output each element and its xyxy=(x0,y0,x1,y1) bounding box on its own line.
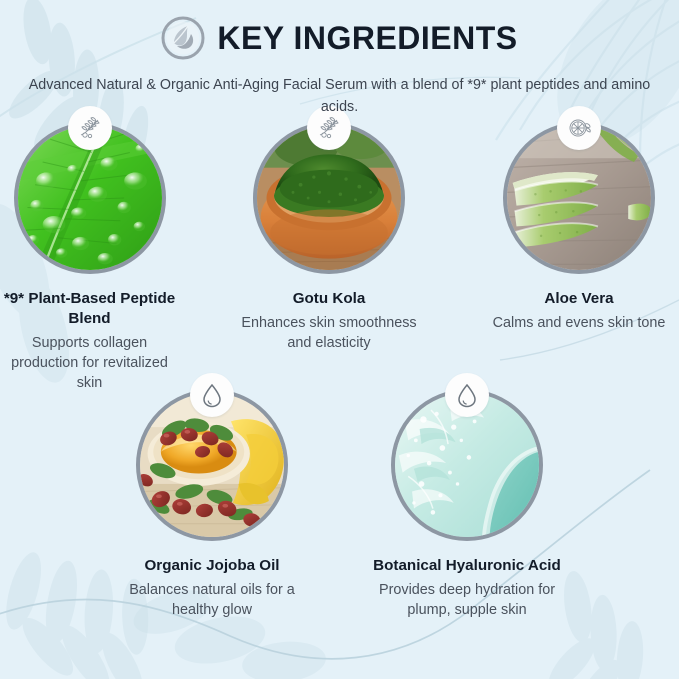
ingredient-name: Gotu Kola xyxy=(229,289,429,309)
photo-wrap xyxy=(503,122,655,274)
citrus-slice-icon xyxy=(566,115,592,141)
ingredient-description: Supports collagen production for revital… xyxy=(2,334,178,394)
water-droplet-icon xyxy=(455,382,479,408)
ingredient-row-top: *9* Plant-Based Peptide Blend Supports c… xyxy=(0,122,679,394)
ingredient-row-bottom: Organic Jojoba Oil Balances natural oils… xyxy=(0,389,679,621)
ingredient-card-peptide-blend: *9* Plant-Based Peptide Blend Supports c… xyxy=(0,122,179,394)
ingredient-name: Botanical Hyaluronic Acid xyxy=(360,556,575,576)
water-droplet-icon xyxy=(200,382,224,408)
photo-wrap xyxy=(136,389,288,541)
header: KEY INGREDIENTS Advanced Natural & Organ… xyxy=(0,12,679,118)
ingredient-card-hyaluronic-acid: Botanical Hyaluronic Acid Provides deep … xyxy=(367,389,567,621)
ingredient-description: Calms and evens skin tone xyxy=(491,314,667,334)
ingredient-name: Organic Jojoba Oil xyxy=(105,556,320,576)
badge-water-droplet xyxy=(445,373,489,417)
ingredient-name: Aloe Vera xyxy=(479,289,679,309)
page-subtitle: Advanced Natural & Organic Anti-Aging Fa… xyxy=(27,74,652,118)
title-row: KEY INGREDIENTS xyxy=(0,12,679,64)
key-ingredients-infographic: KEY INGREDIENTS Advanced Natural & Organ… xyxy=(0,0,679,679)
ingredient-card-gotu-kola: Gotu Kola Enhances skin smoothness and e… xyxy=(229,122,429,394)
ingredient-card-jojoba-oil: Organic Jojoba Oil Balances natural oils… xyxy=(112,389,312,621)
ingredient-card-aloe-vera: Aloe Vera Calms and evens skin tone xyxy=(479,122,679,394)
herb-sprig-icon xyxy=(316,115,342,141)
ingredient-description: Balances natural oils for a healthy glow xyxy=(105,581,320,621)
photo-wrap xyxy=(391,389,543,541)
page-title: KEY INGREDIENTS xyxy=(217,22,517,54)
badge-water-droplet xyxy=(190,373,234,417)
photo-wrap xyxy=(253,122,405,274)
leaf-droplet-logo-icon xyxy=(161,16,205,60)
ingredient-description: Enhances skin smoothness and elasticity xyxy=(241,314,417,354)
ingredient-name: *9* Plant-Based Peptide Blend xyxy=(2,289,178,329)
photo-wrap xyxy=(14,122,166,274)
ingredient-description: Provides deep hydration for plump, suppl… xyxy=(360,581,575,621)
herb-sprig-icon xyxy=(77,115,103,141)
